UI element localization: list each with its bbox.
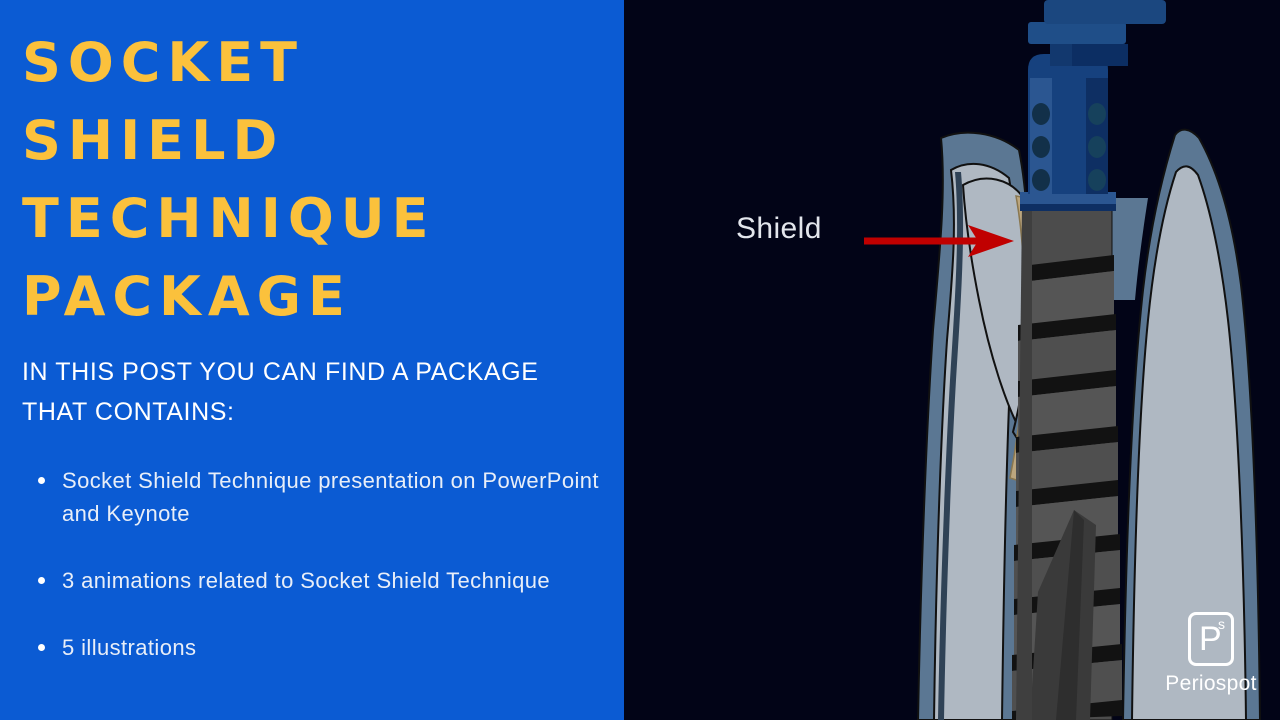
- periospot-branding: P s Periospot: [1155, 612, 1267, 696]
- abutment-dot-icon: [1088, 169, 1106, 191]
- shield-callout-label: Shield: [736, 212, 822, 246]
- abutment-screw-slot: [1072, 44, 1128, 66]
- left-text-panel: SOCKET SHIELD TECHNIQUE PACKAGE IN THIS …: [0, 0, 624, 720]
- list-item: Socket Shield Technique presentation on …: [22, 464, 602, 530]
- list-item: 5 illustrations: [22, 631, 602, 664]
- list-item: 3 animations related to Socket Shield Te…: [22, 564, 602, 597]
- slide-root: SOCKET SHIELD TECHNIQUE PACKAGE IN THIS …: [0, 0, 1280, 720]
- illustration-panel: Shield P s Periospot: [624, 0, 1280, 720]
- abutment-dot-icon: [1032, 103, 1050, 125]
- feature-bullet-list: Socket Shield Technique presentation on …: [22, 464, 602, 664]
- list-item-label: Socket Shield Technique presentation on …: [62, 468, 599, 526]
- abutment-mid-cap: [1028, 22, 1126, 44]
- abutment-top-cap: [1044, 0, 1166, 24]
- shield-arrow-icon: [864, 221, 1024, 261]
- bullet-dot-icon: [38, 477, 45, 484]
- page-title: SOCKET SHIELD TECHNIQUE PACKAGE: [22, 24, 602, 336]
- abutment-dot-icon: [1088, 136, 1106, 158]
- periospot-mark-superscript: s: [1218, 616, 1225, 632]
- list-item-label: 5 illustrations: [62, 635, 196, 660]
- abutment-dot-icon: [1032, 136, 1050, 158]
- list-item-label: 3 animations related to Socket Shield Te…: [62, 568, 550, 593]
- bullet-dot-icon: [38, 577, 45, 584]
- abutment-dot-icon: [1088, 103, 1106, 125]
- implant-neck-collar-shadow: [1020, 204, 1116, 211]
- abutment-dot-icon: [1032, 169, 1050, 191]
- bullet-dot-icon: [38, 644, 45, 651]
- subtitle-text: IN THIS POST YOU CAN FIND A PACKAGE THAT…: [22, 352, 602, 432]
- periospot-logo-icon: P s: [1188, 612, 1234, 666]
- periospot-wordmark: Periospot: [1155, 672, 1267, 696]
